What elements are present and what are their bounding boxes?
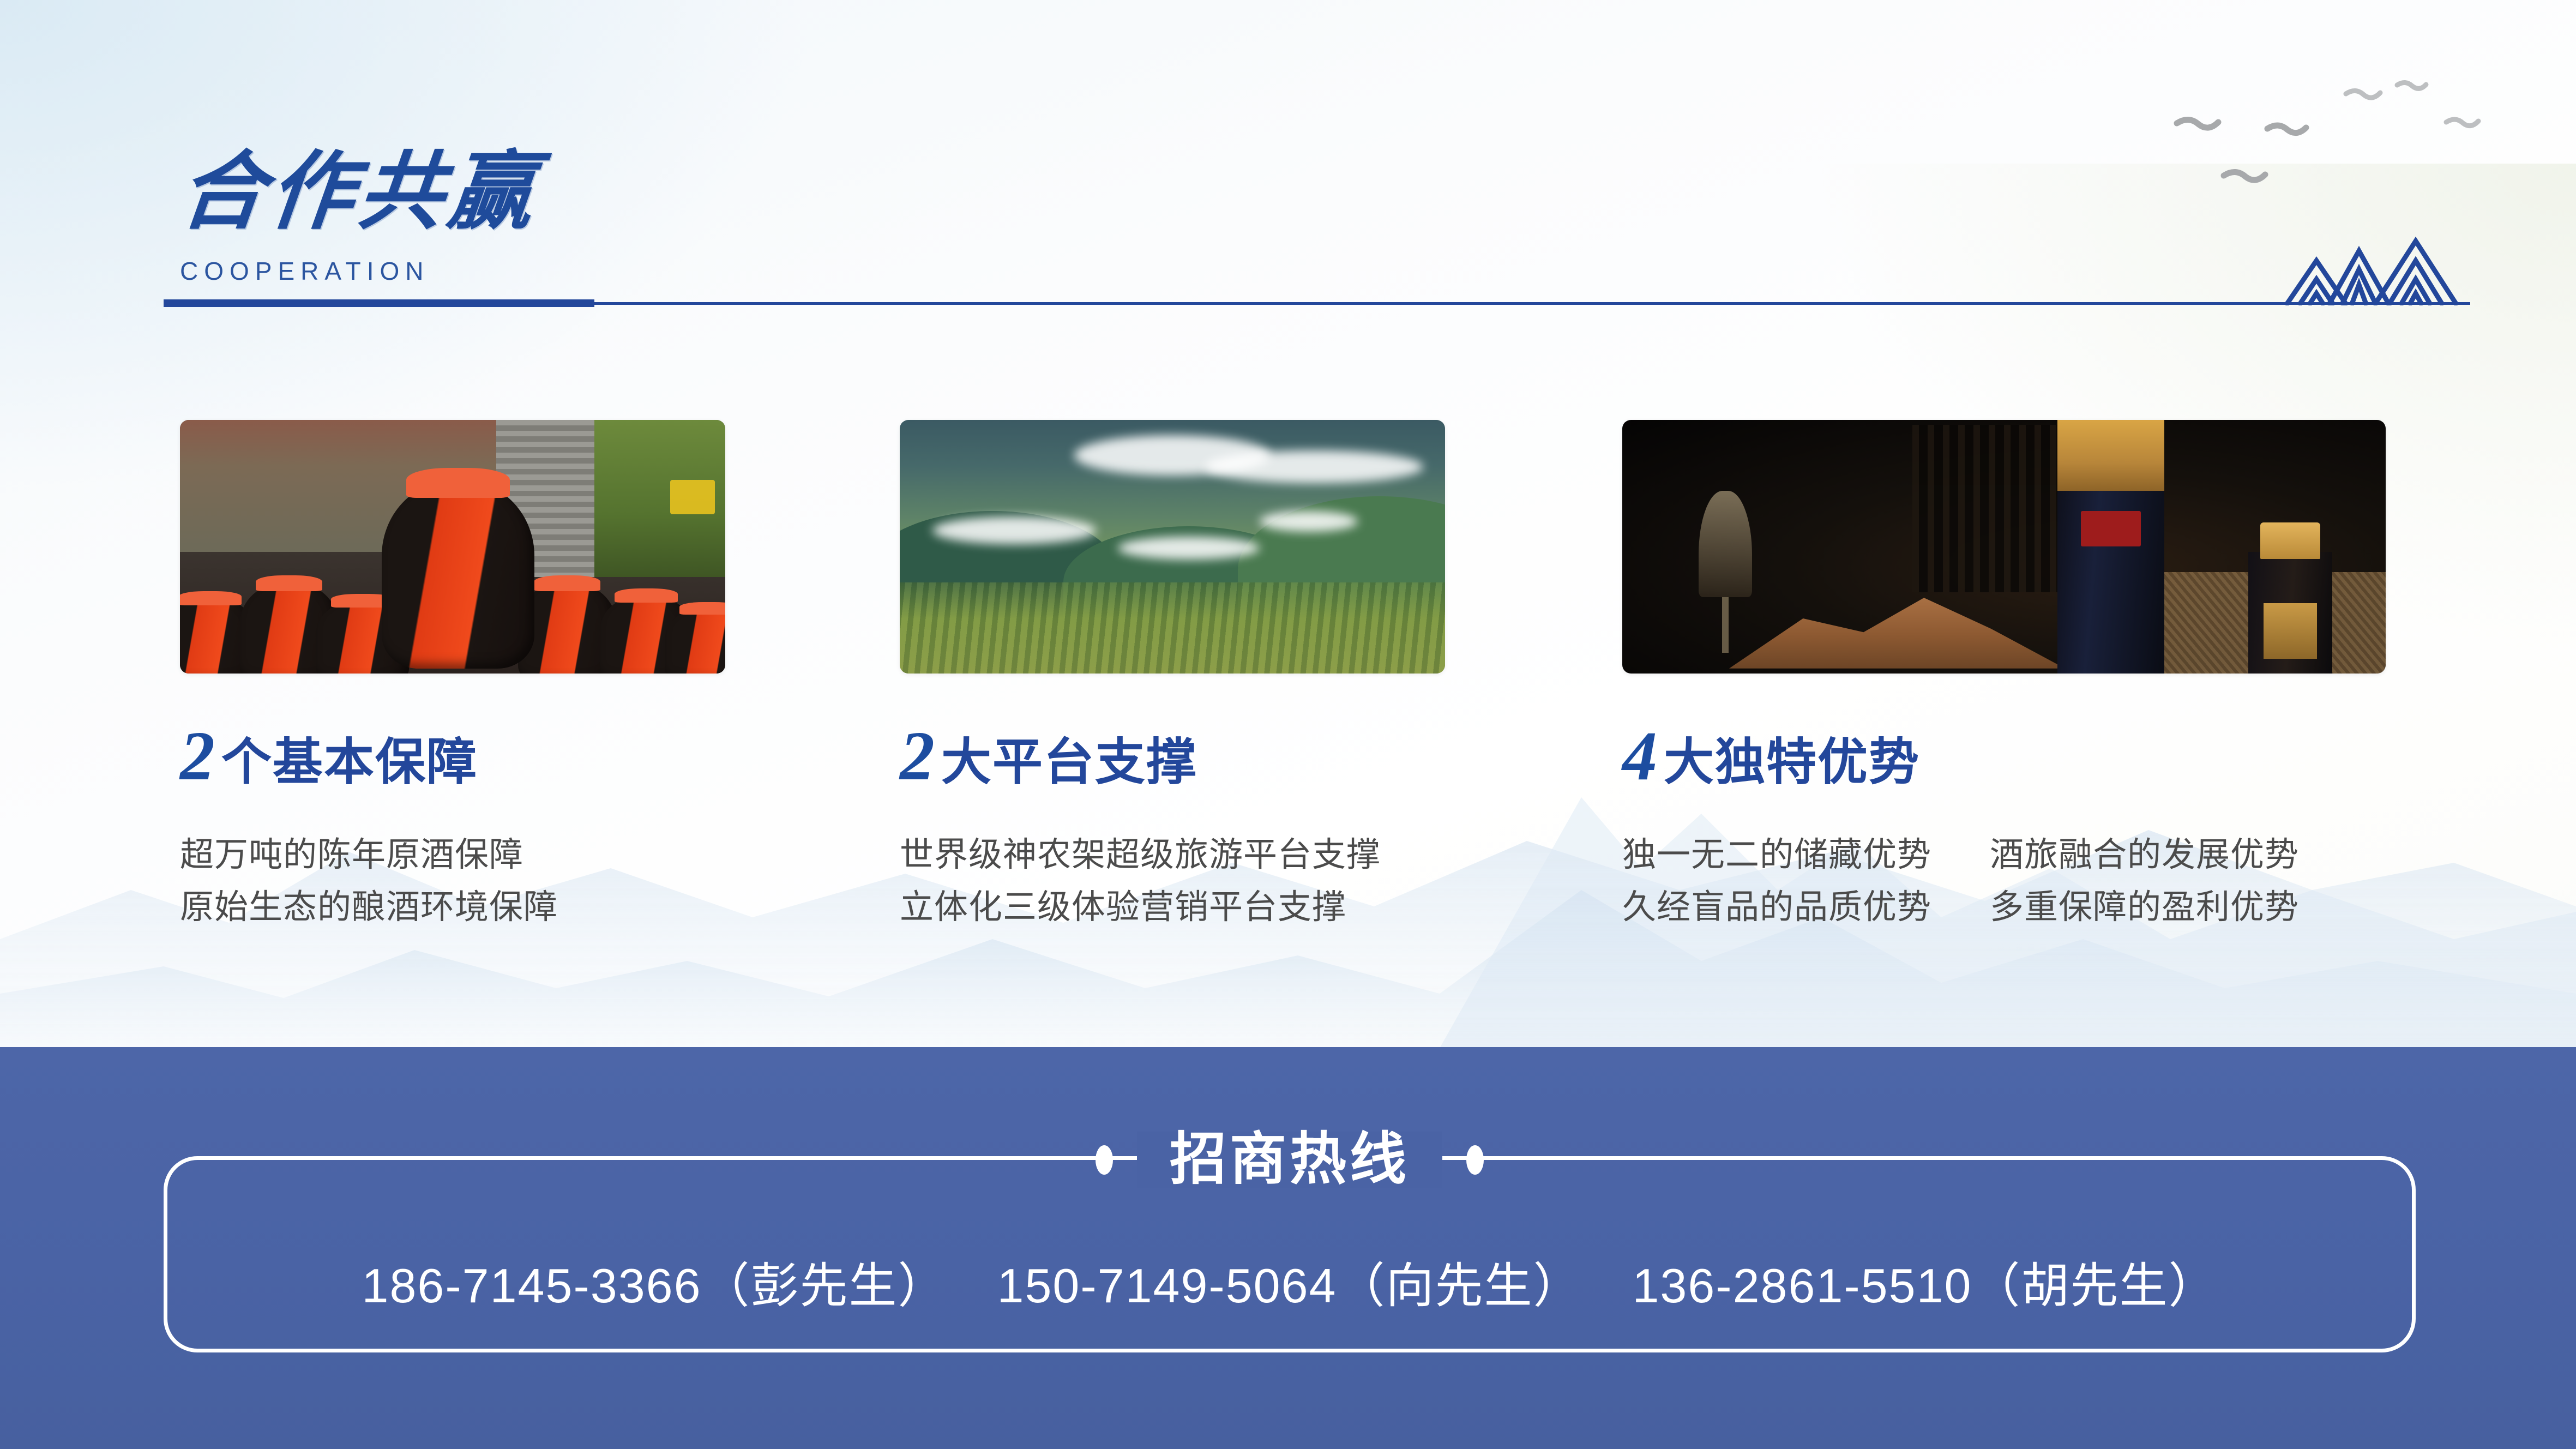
phone-number[interactable]: 136-2861-5510（胡先生） xyxy=(1632,1247,2217,1316)
feature-column-2: 2 大平台支撑 世界级神农架超级旅游平台支撑 立体化三级体验营销平台支撑 xyxy=(900,420,1445,934)
feature-line: 原始生态的酿酒环境保障 xyxy=(180,881,725,934)
page-title: 合作共赢 xyxy=(180,150,538,235)
feature-title-3: 大独特优势 xyxy=(1664,722,1920,794)
feature-number-2: 2 xyxy=(900,725,934,787)
header-section: 合作共赢 COOPERATION xyxy=(0,0,2576,338)
divider-thick-segment xyxy=(164,299,594,307)
feature-line: 立体化三级体验营销平台支撑 xyxy=(900,881,1445,934)
feature-line: 久经盲品的品质优势 xyxy=(1622,881,1971,934)
feature-line: 独一无二的储藏优势 xyxy=(1622,829,1971,881)
poster-canvas: 合作共赢 COOPERATION xyxy=(0,0,2576,1449)
feature-number-3: 4 xyxy=(1622,725,1656,787)
header-divider xyxy=(164,297,2470,309)
mountain-peaks-icon xyxy=(2252,235,2470,305)
right-dot-icon xyxy=(1466,1145,1484,1175)
hotline-title-wrap: 招商热线 xyxy=(167,1124,2412,1196)
features-section: 2 个基本保障 超万吨的陈年原酒保障 原始生态的酿酒环境保障 2 大平台支撑 xyxy=(0,420,2576,1009)
feature-image-misty-mountain xyxy=(900,420,1445,674)
feature-image-wine-jars xyxy=(180,420,725,674)
feature-heading-1: 2 个基本保障 xyxy=(180,722,725,794)
feature-body-2: 世界级神农架超级旅游平台支撑 立体化三级体验营销平台支撑 xyxy=(900,829,1445,934)
feature-heading-2: 2 大平台支撑 xyxy=(900,722,1445,794)
feature-line: 世界级神农架超级旅游平台支撑 xyxy=(900,829,1445,881)
feature-line: 多重保障的盈利优势 xyxy=(1990,881,2339,934)
title-chinese: 合作共赢 xyxy=(176,150,542,235)
hotline-title: 招商热线 xyxy=(1137,1132,1442,1188)
feature-body-3: 独一无二的储藏优势 酒旅融合的发展优势 久经盲品的品质优势 多重保障的盈利优势 xyxy=(1622,829,2386,934)
feature-image-liquor-product xyxy=(1622,420,2386,674)
divider-thin-segment xyxy=(594,302,2470,305)
feature-line: 超万吨的陈年原酒保障 xyxy=(180,829,725,881)
footer-banner: 招商热线 186-7145-3366（彭先生） 150-7149-5064（向先… xyxy=(0,1047,2576,1449)
feature-body-1: 超万吨的陈年原酒保障 原始生态的酿酒环境保障 xyxy=(180,829,725,934)
phone-number[interactable]: 186-7145-3366（彭先生） xyxy=(362,1247,947,1316)
feature-number-1: 2 xyxy=(180,725,214,787)
hotline-numbers: 186-7145-3366（彭先生） 150-7149-5064（向先生） 13… xyxy=(167,1247,2412,1316)
title-english: COOPERATION xyxy=(180,256,430,286)
feature-column-3: 4 大独特优势 独一无二的储藏优势 酒旅融合的发展优势 久经盲品的品质优势 多重… xyxy=(1622,420,2386,934)
feature-line: 酒旅融合的发展优势 xyxy=(1990,829,2339,881)
left-dot-icon xyxy=(1096,1145,1113,1175)
feature-title-2: 大平台支撑 xyxy=(941,722,1197,794)
phone-number[interactable]: 150-7149-5064（向先生） xyxy=(997,1247,1582,1316)
hotline-box: 招商热线 186-7145-3366（彭先生） 150-7149-5064（向先… xyxy=(164,1156,2416,1352)
feature-title-1: 个基本保障 xyxy=(221,722,478,794)
feature-heading-3: 4 大独特优势 xyxy=(1622,722,2386,794)
feature-column-1: 2 个基本保障 超万吨的陈年原酒保障 原始生态的酿酒环境保障 xyxy=(180,420,725,934)
